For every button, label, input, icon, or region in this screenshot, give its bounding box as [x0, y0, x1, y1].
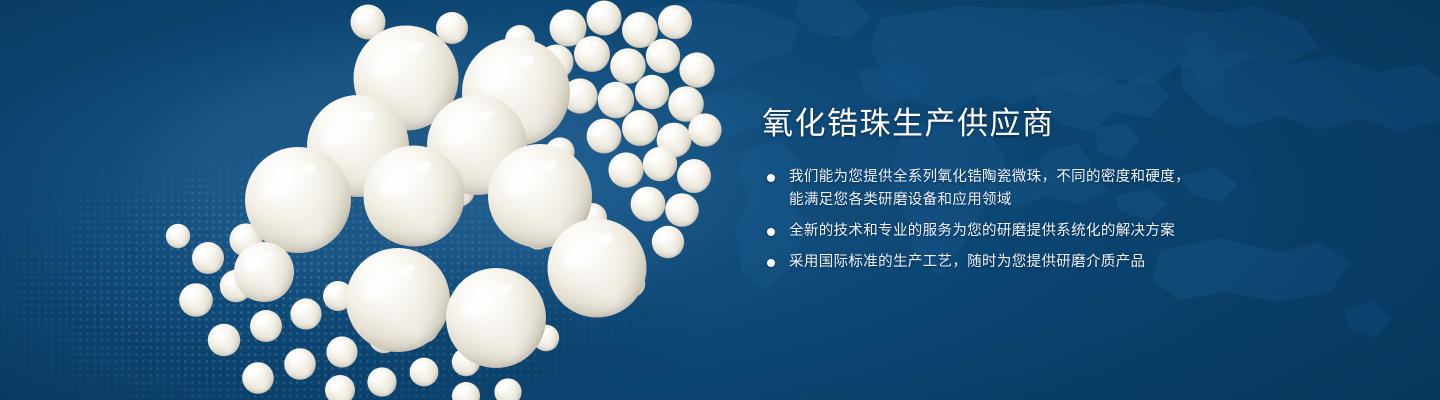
list-item: 我们能为您提供全系列氧化锆陶瓷微珠，不同的密度和硬度， 能满足您各类研磨设备和应… [762, 166, 1282, 212]
list-item: 全新的技术和专业的服务为您的研磨提供系统化的解决方案 [762, 220, 1282, 243]
banner-headline: 氧化锆珠生产供应商 [762, 104, 1282, 144]
hero-banner: 氧化锆珠生产供应商 我们能为您提供全系列氧化锆陶瓷微珠，不同的密度和硬度， 能满… [0, 0, 1440, 400]
bullet-text-line: 我们能为您提供全系列氧化锆陶瓷微珠，不同的密度和硬度， [789, 166, 1282, 189]
bullet-dot-icon [767, 228, 775, 236]
banner-bullet-list: 我们能为您提供全系列氧化锆陶瓷微珠，不同的密度和硬度， 能满足您各类研磨设备和应… [762, 166, 1282, 274]
bullet-text-line: 能满足您各类研磨设备和应用领域 [789, 189, 1282, 212]
list-item: 采用国际标准的生产工艺，随时为您提供研磨介质产品 [762, 251, 1282, 274]
bullet-dot-icon [767, 259, 775, 267]
bullet-text-line: 全新的技术和专业的服务为您的研磨提供系统化的解决方案 [789, 220, 1282, 243]
bullet-text-line: 采用国际标准的生产工艺，随时为您提供研磨介质产品 [789, 251, 1282, 274]
banner-copy: 氧化锆珠生产供应商 我们能为您提供全系列氧化锆陶瓷微珠，不同的密度和硬度， 能满… [762, 104, 1282, 274]
bullet-dot-icon [767, 174, 775, 182]
